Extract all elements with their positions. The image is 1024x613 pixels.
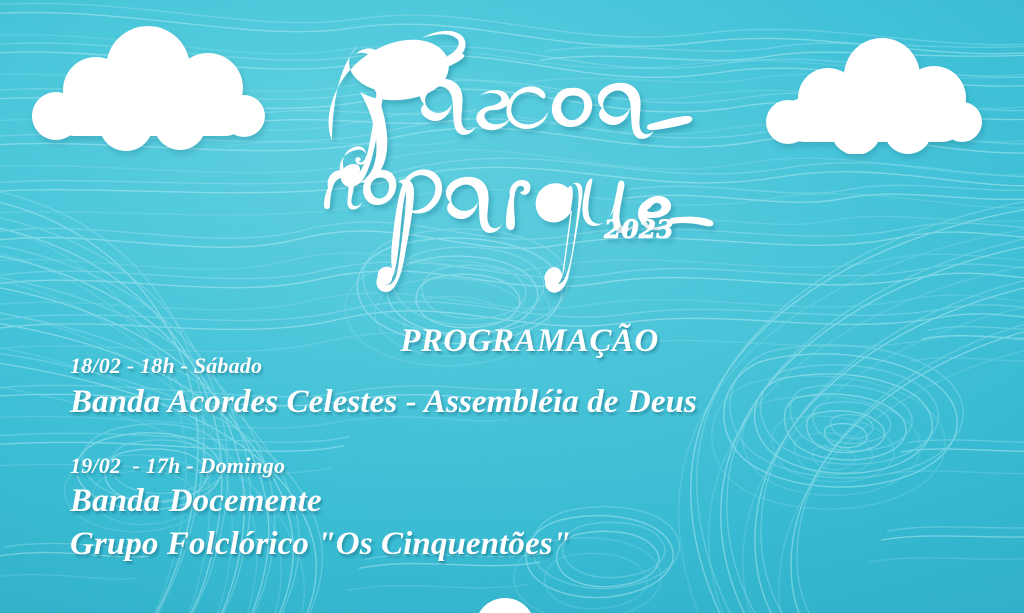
poster-canvas: 2023 Páscoa no parque PROGRAMAÇÃO 18/02 …	[0, 0, 1024, 613]
cloud-icon-left	[22, 24, 272, 154]
event-logo: 2023 Páscoa no parque	[272, 12, 742, 252]
cloud-icon-bottom-cropped	[445, 592, 565, 613]
cloud-icon-right	[752, 36, 987, 154]
schedule-act-2-2: Grupo Folclórico "Os Cinquentões"	[70, 524, 1010, 564]
schedule-datetime-2: 19/02 - 17h - Domingo	[70, 452, 1010, 480]
schedule-block-2: 19/02 - 17h - Domingo Banda Docemente Gr…	[70, 452, 1010, 564]
schedule-datetime-1: 18/02 - 18h - Sábado	[70, 352, 1010, 380]
logo-year: 2023	[603, 215, 674, 244]
schedule-act-2-1: Banda Docemente	[70, 481, 1010, 521]
logo-line-1	[329, 31, 693, 187]
schedule-act-1-1: Banda Acordes Celestes - Assembléia de D…	[70, 382, 1010, 422]
schedule-block-1: 18/02 - 18h - Sábado Banda Acordes Celes…	[70, 352, 1010, 422]
schedule-list: 18/02 - 18h - Sábado Banda Acordes Celes…	[70, 352, 1010, 586]
